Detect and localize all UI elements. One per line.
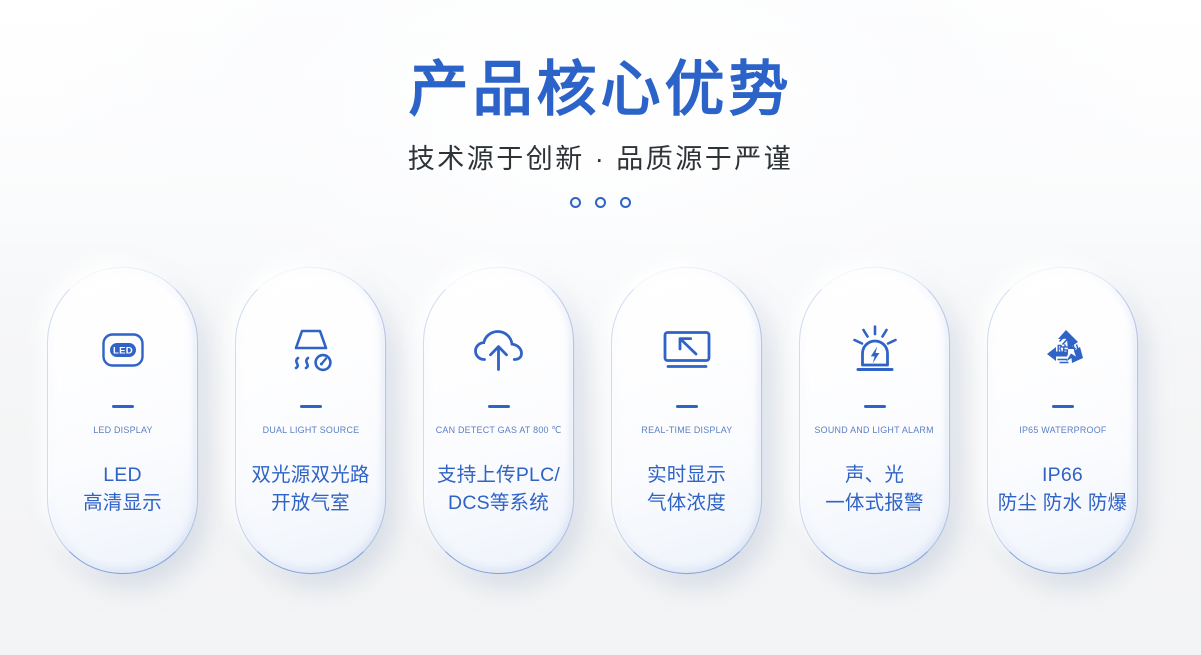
feature-card-sound-light-alarm[interactable]: SOUND AND LIGHT ALARM 声、光 一体式报警 bbox=[800, 268, 949, 573]
feature-card-dual-light-source[interactable]: DUAL LIGHT SOURCE 双光源双光路 开放气室 bbox=[236, 268, 385, 573]
card-eyebrow: SOUND AND LIGHT ALARM bbox=[815, 425, 934, 436]
recycle-protect-icon: 防 bbox=[1036, 323, 1090, 377]
page-title: 产品核心优势 bbox=[0, 56, 1201, 123]
monitor-arrow-icon bbox=[660, 323, 714, 377]
card-eyebrow: IP65 WATERPROOF bbox=[1019, 425, 1106, 436]
card-divider bbox=[1052, 405, 1074, 408]
feature-card-list: LED LED DISPLAY LED 高清显示 bbox=[48, 268, 1160, 573]
led-badge-icon: LED bbox=[99, 323, 147, 377]
page-header: 产品核心优势 技术源于创新 · 品质源于严谨 bbox=[0, 56, 1201, 208]
product-advantages-page: 产品核心优势 技术源于创新 · 品质源于严谨 LED LED DISPLAY L… bbox=[0, 0, 1201, 655]
card-title: IP66 防尘 防水 防爆 bbox=[998, 462, 1127, 517]
cloud-upload-icon bbox=[471, 323, 527, 377]
card-eyebrow: REAL-TIME DISPLAY bbox=[641, 425, 732, 436]
card-divider bbox=[300, 405, 322, 408]
alarm-siren-icon bbox=[848, 323, 902, 377]
feature-card-ip-waterproof[interactable]: 防 IP65 WATERPROOF IP66 防尘 防水 防爆 bbox=[988, 268, 1137, 573]
feature-card-cloud-upload[interactable]: CAN DETECT GAS AT 800 ℃ 支持上传PLC/ DCS等系统 bbox=[424, 268, 573, 573]
card-eyebrow: CAN DETECT GAS AT 800 ℃ bbox=[436, 425, 562, 436]
svg-text:LED: LED bbox=[112, 345, 132, 356]
card-divider bbox=[864, 405, 886, 408]
card-divider bbox=[488, 405, 510, 408]
card-eyebrow: LED DISPLAY bbox=[93, 425, 152, 436]
card-divider bbox=[112, 405, 134, 408]
feature-card-realtime-display[interactable]: REAL-TIME DISPLAY 实时显示 气体浓度 bbox=[612, 268, 761, 573]
card-title: 实时显示 气体浓度 bbox=[647, 462, 726, 517]
decorative-dots bbox=[0, 197, 1201, 208]
dual-light-source-icon bbox=[285, 323, 337, 377]
card-title: 双光源双光路 开放气室 bbox=[251, 462, 369, 517]
feature-card-led-display[interactable]: LED LED DISPLAY LED 高清显示 bbox=[48, 268, 197, 573]
card-title: LED 高清显示 bbox=[83, 462, 162, 517]
dot-icon bbox=[595, 197, 606, 208]
card-divider bbox=[676, 405, 698, 408]
dot-icon bbox=[620, 197, 631, 208]
card-title: 声、光 一体式报警 bbox=[825, 462, 924, 517]
svg-text:防: 防 bbox=[1056, 343, 1069, 358]
card-title: 支持上传PLC/ DCS等系统 bbox=[437, 462, 560, 517]
page-subtitle: 技术源于创新 · 品质源于严谨 bbox=[0, 137, 1201, 176]
card-eyebrow: DUAL LIGHT SOURCE bbox=[262, 425, 359, 436]
dot-icon bbox=[570, 197, 581, 208]
